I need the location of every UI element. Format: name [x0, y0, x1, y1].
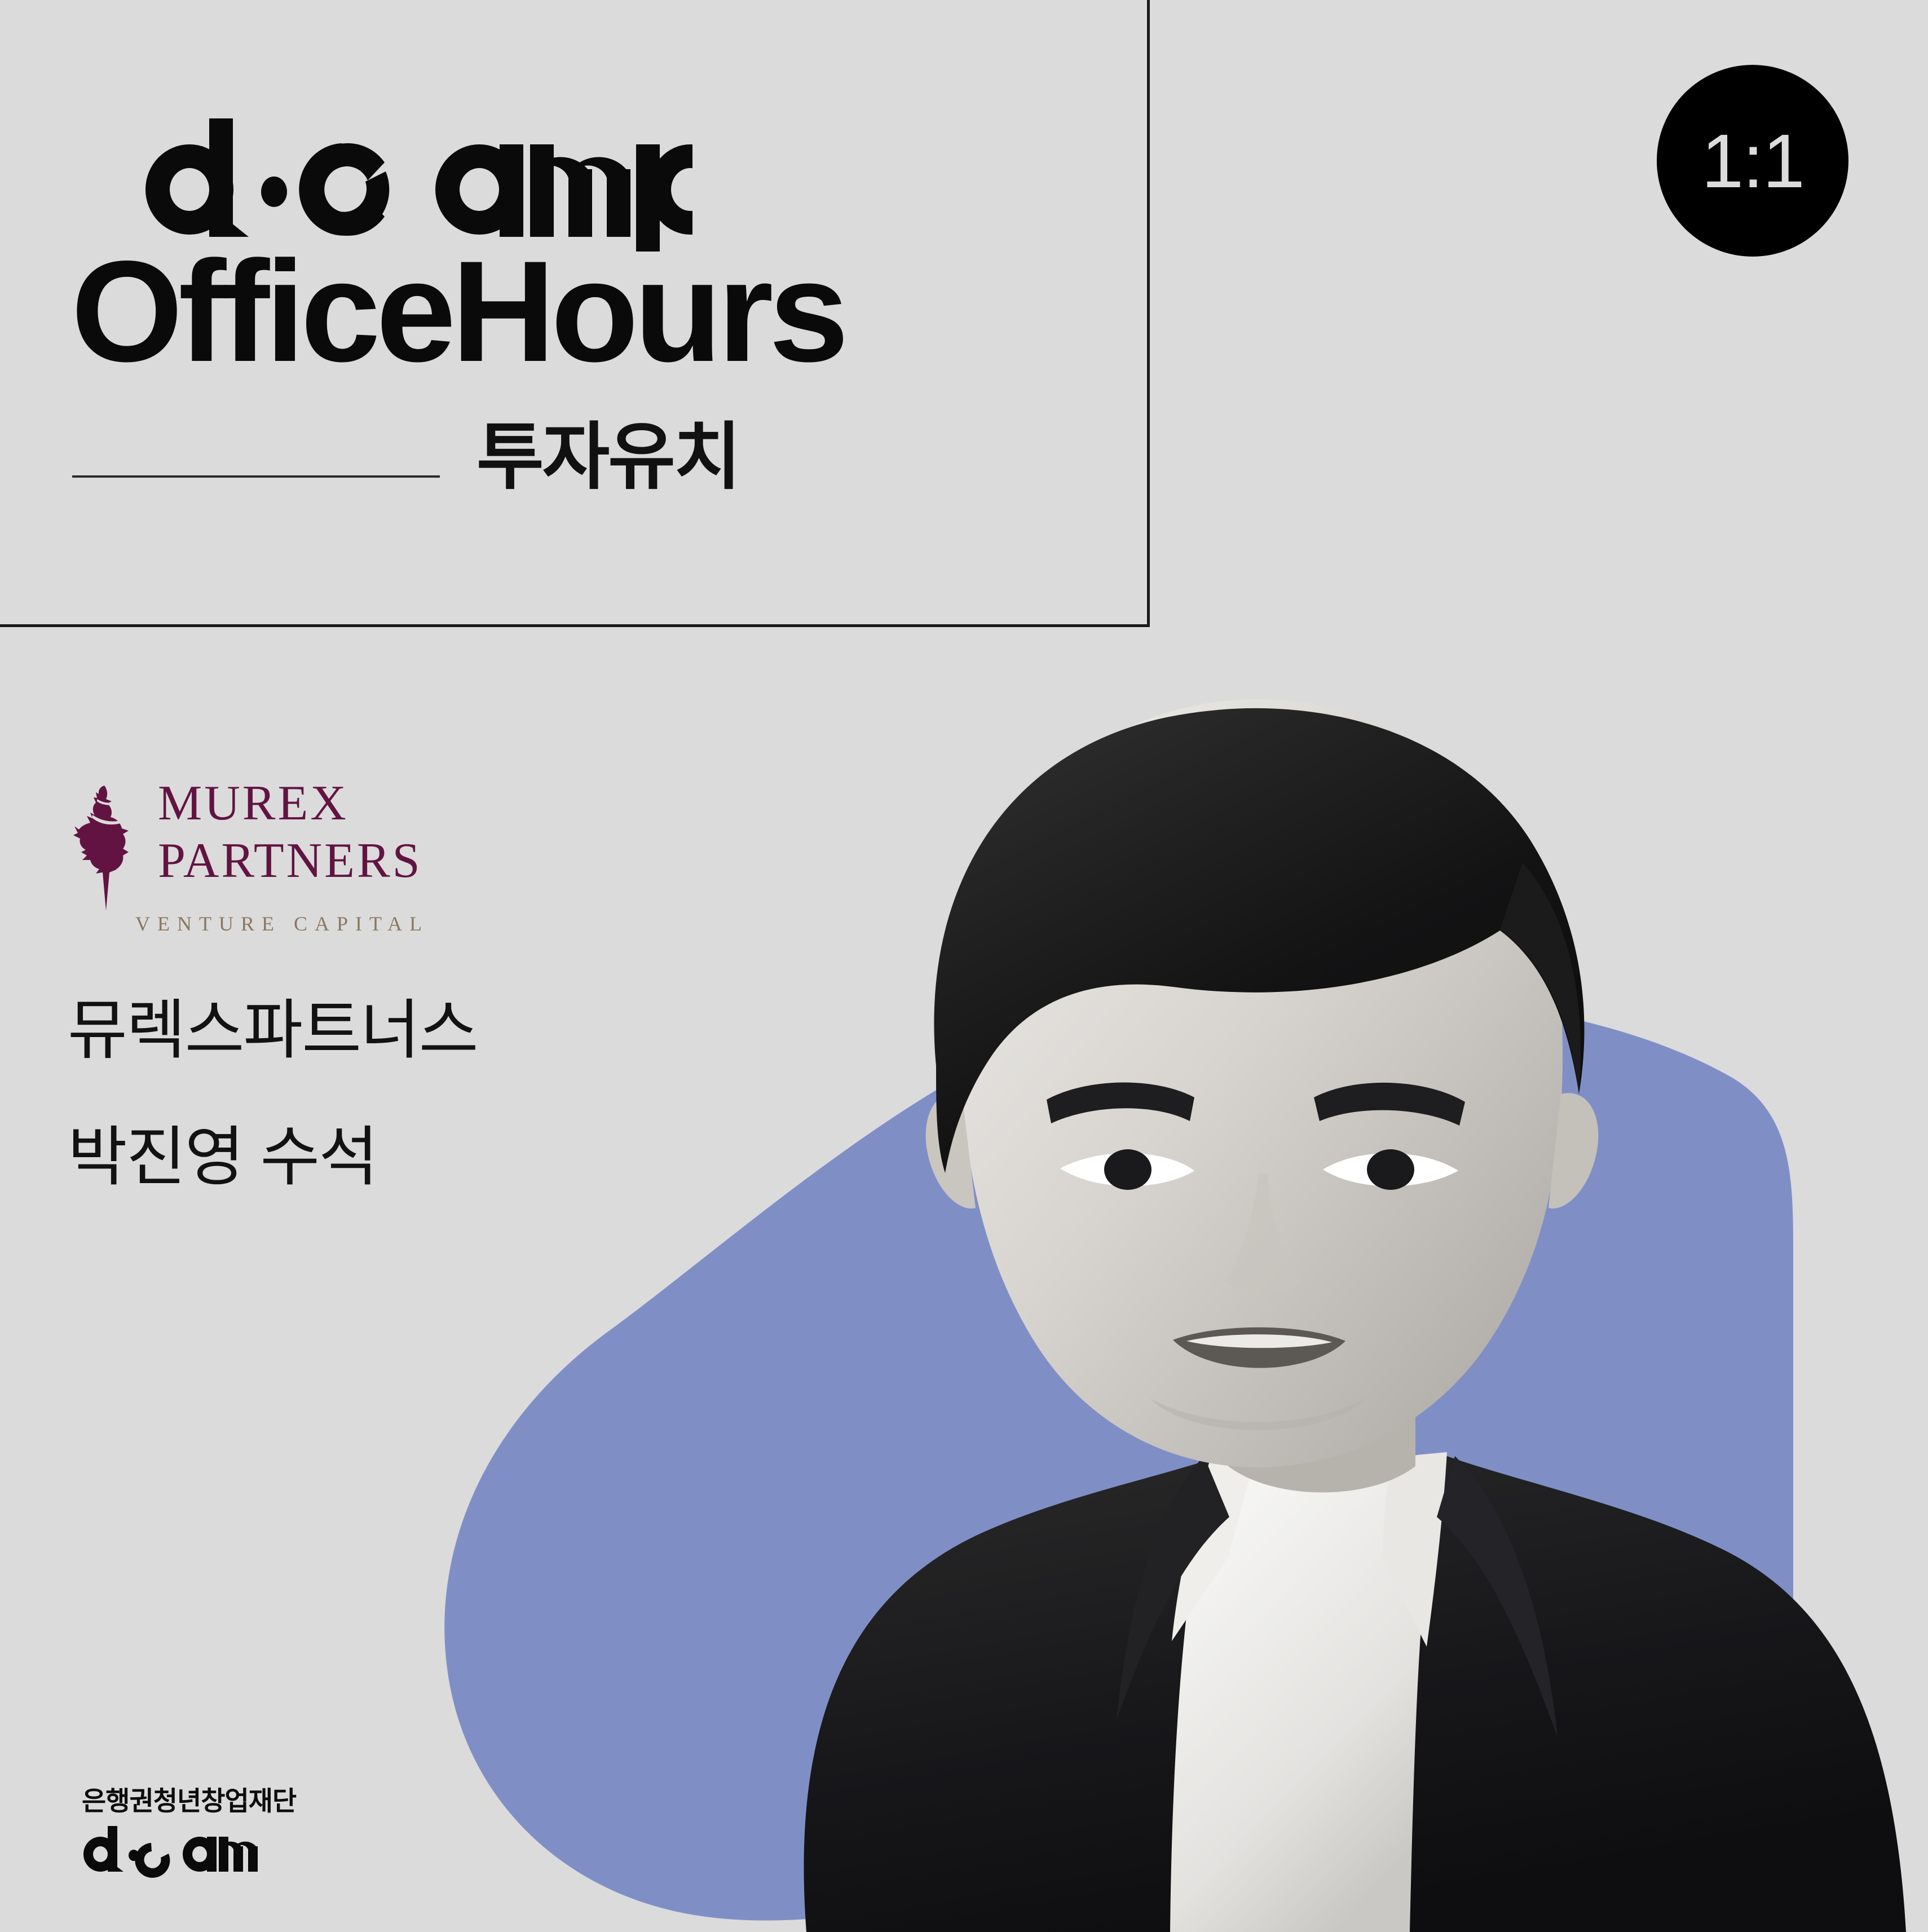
dcamp-footer-wordmark: [79, 1821, 265, 1878]
topic-underline-rule: [72, 475, 440, 478]
partner-logo-line2: PARTNERS: [158, 836, 422, 886]
partner-logo: MUREX PARTNERS VENTURE CAPITAL: [72, 775, 478, 945]
poster-canvas: 1:1: [0, 0, 1928, 1932]
badge-label: 1:1: [1701, 123, 1804, 199]
speaker-organization: 뮤렉스파트너스: [68, 998, 478, 1063]
speaker-name: 박진영 수석: [68, 1125, 377, 1190]
page-title: OfficeHours: [71, 240, 844, 383]
one-on-one-badge: 1:1: [1657, 65, 1848, 257]
dcamp-wordmark: [72, 111, 692, 252]
footer-logo-block: 은행권청년창업재단: [79, 1788, 305, 1884]
vertical-divider-rule: [1147, 0, 1150, 627]
partner-logo-tagline: VENTURE CAPITAL: [135, 914, 429, 934]
partner-logo-line1: MUREX: [158, 779, 348, 828]
foundation-name: 은행권청년창업재단: [82, 1788, 296, 1814]
murex-shell-icon: [73, 783, 136, 912]
speaker-portrait-photo: [564, 649, 1928, 1932]
topic-label: 투자유치: [477, 420, 739, 493]
horizontal-divider-rule: [0, 624, 1150, 627]
